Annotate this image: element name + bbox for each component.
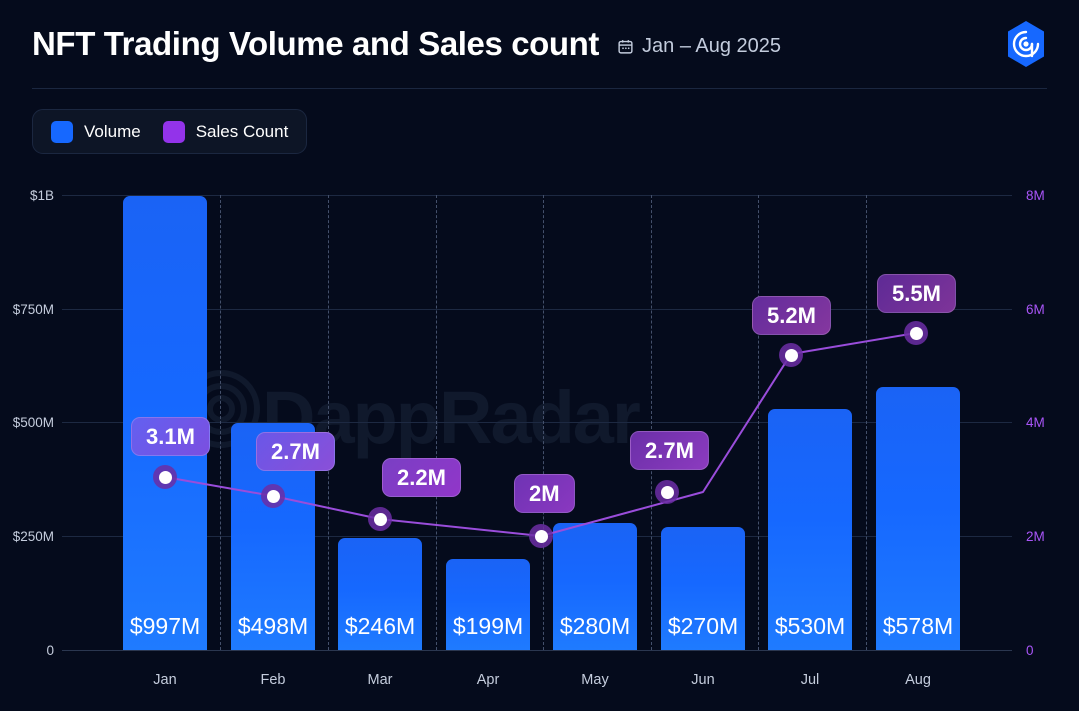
- point-value-jul: 5.5M: [877, 274, 956, 313]
- bar-apr[interactable]: [446, 559, 530, 650]
- bar-value-may: $280M: [540, 613, 650, 640]
- calendar-icon: [617, 38, 634, 55]
- gridline-zero: [62, 650, 1012, 651]
- y-axis-left-tick-750m: $750M: [13, 302, 54, 317]
- gridline-750m: [62, 309, 1012, 310]
- data-point-may[interactable]: [655, 480, 679, 504]
- legend-item-sales-count[interactable]: Sales Count: [163, 121, 289, 143]
- gridline-250m: [62, 536, 1012, 537]
- gridline-1b: [62, 195, 1012, 196]
- bar-value-jun: $270M: [648, 613, 758, 640]
- header-divider: [32, 88, 1047, 89]
- bar-feb[interactable]: [231, 423, 315, 650]
- page-title: NFT Trading Volume and Sales count: [32, 25, 599, 63]
- legend-item-volume[interactable]: Volume: [51, 121, 141, 143]
- point-value-feb: 2.7M: [256, 432, 335, 471]
- y-axis-right-tick-6m: 6M: [1026, 302, 1045, 317]
- bar-jan[interactable]: [123, 196, 207, 650]
- point-value-apr: 2M: [514, 474, 575, 513]
- y-axis-right-tick-2m: 2M: [1026, 529, 1045, 544]
- bar-value-mar: $246M: [325, 613, 435, 640]
- x-axis-tick-feb: Feb: [218, 672, 328, 688]
- bar-value-jul: $530M: [755, 613, 865, 640]
- bar-value-aug: $578M: [863, 613, 973, 640]
- bar-value-feb: $498M: [218, 613, 328, 640]
- chart-plot-area: DappRadar $1B $750M $500M $250M 0 8M 6M …: [0, 0, 1079, 711]
- bar-may[interactable]: [553, 523, 637, 650]
- y-axis-right-tick-8m: 8M: [1026, 188, 1045, 203]
- data-point-mar[interactable]: [368, 507, 392, 531]
- y-axis-left-tick-1b: $1B: [30, 188, 54, 203]
- x-axis-tick-jun: Jun: [648, 672, 758, 688]
- data-point-jan[interactable]: [153, 465, 177, 489]
- vgridline-3: [436, 195, 437, 650]
- vgridline-7: [866, 195, 867, 650]
- x-axis-tick-jan: Jan: [110, 672, 220, 688]
- point-value-jan: 3.1M: [131, 417, 210, 456]
- chart-legend: Volume Sales Count: [32, 109, 307, 154]
- legend-label-volume: Volume: [84, 122, 141, 142]
- y-axis-left-tick-0: 0: [46, 643, 54, 658]
- sales-count-line: [0, 0, 1079, 711]
- legend-swatch-sales-count: [163, 121, 185, 143]
- bar-value-apr: $199M: [433, 613, 543, 640]
- bar-jun[interactable]: [661, 527, 745, 650]
- dappradar-logo-icon: [1001, 19, 1051, 69]
- bar-jul[interactable]: [768, 409, 852, 650]
- x-axis-tick-mar: Mar: [325, 672, 435, 688]
- bar-value-jan: $997M: [110, 613, 220, 640]
- vgridline-1: [220, 195, 221, 650]
- vgridline-5: [651, 195, 652, 650]
- point-value-mar: 2.2M: [382, 458, 461, 497]
- watermark-text: DappRadar: [262, 375, 639, 460]
- chart-header: NFT Trading Volume and Sales count Jan –…: [0, 0, 1079, 88]
- x-axis-tick-may: May: [540, 672, 650, 688]
- data-point-feb[interactable]: [261, 484, 285, 508]
- x-axis-tick-jul: Jul: [755, 672, 865, 688]
- legend-swatch-volume: [51, 121, 73, 143]
- bar-mar[interactable]: [338, 538, 422, 650]
- watermark-logo-icon: [178, 366, 264, 452]
- legend-label-sales-count: Sales Count: [196, 122, 289, 142]
- data-point-apr[interactable]: [529, 524, 553, 548]
- data-point-jun[interactable]: [779, 343, 803, 367]
- data-point-jul[interactable]: [904, 321, 928, 345]
- bar-aug[interactable]: [876, 387, 960, 650]
- date-range-label: Jan – Aug 2025: [642, 35, 781, 58]
- vgridline-4: [543, 195, 544, 650]
- vgridline-2: [328, 195, 329, 650]
- y-axis-left-tick-500m: $500M: [13, 415, 54, 430]
- date-range: Jan – Aug 2025: [617, 35, 781, 58]
- y-axis-right-tick-0: 0: [1026, 643, 1034, 658]
- x-axis-tick-aug: Aug: [863, 672, 973, 688]
- vgridline-6: [758, 195, 759, 650]
- y-axis-left-tick-250m: $250M: [13, 529, 54, 544]
- x-axis-tick-apr: Apr: [433, 672, 543, 688]
- y-axis-right-tick-4m: 4M: [1026, 415, 1045, 430]
- point-value-may: 2.7M: [630, 431, 709, 470]
- gridline-500m: [62, 422, 1012, 423]
- point-value-jun: 5.2M: [752, 296, 831, 335]
